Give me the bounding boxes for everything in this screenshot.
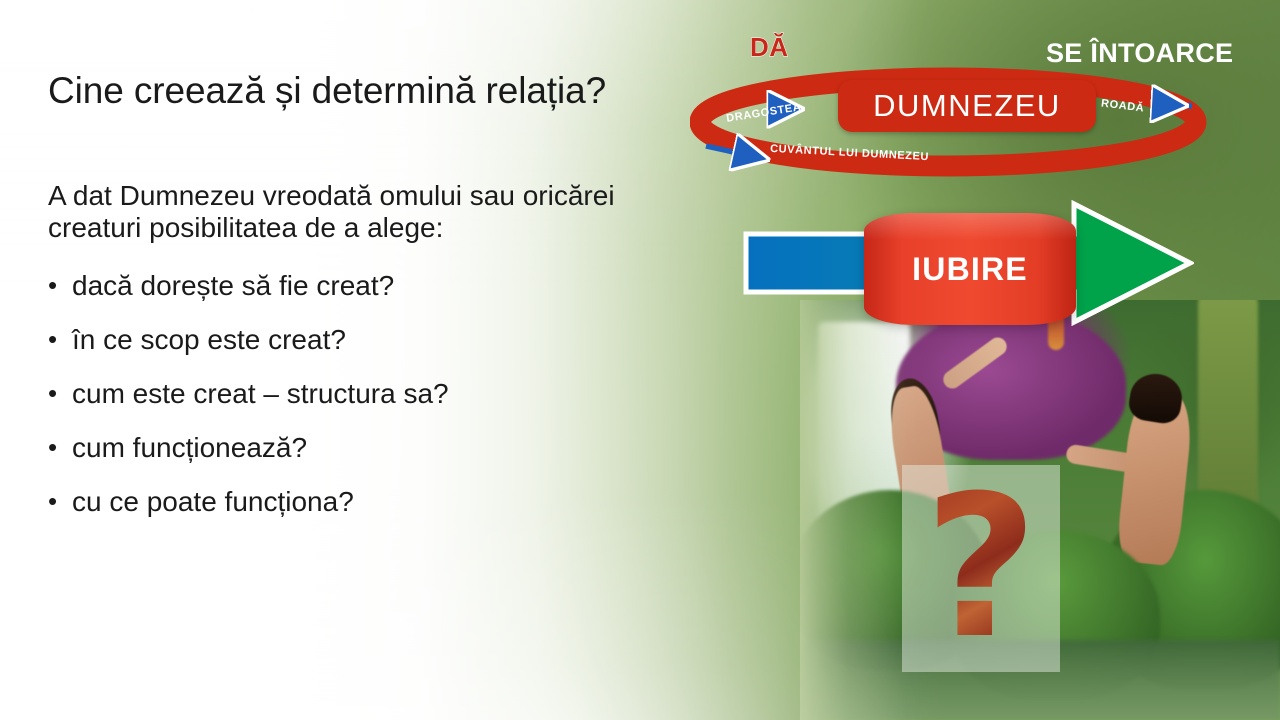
page-title: Cine creează și determină relația? [48, 70, 606, 112]
bullet-list: dacă dorește să fie creat? în ce scop es… [48, 272, 688, 542]
question-mark-panel: ? [902, 465, 1060, 672]
question-mark-icon: ? [924, 486, 1038, 651]
list-item: cum funcționează? [48, 434, 688, 462]
iubire-cylinder: IUBIRE [864, 213, 1076, 325]
list-item: cum este creat – structura sa? [48, 380, 688, 408]
intro-paragraph: A dat Dumnezeu vreodată omului sau orică… [48, 180, 688, 245]
arrow-cuvantul [706, 146, 738, 153]
cycle-arrows-graphic [690, 18, 1270, 183]
presentation-slide: Cine creează și determină relația? A dat… [0, 0, 1280, 720]
list-item: dacă dorește să fie creat? [48, 272, 688, 300]
list-item: în ce scop este creat? [48, 326, 688, 354]
list-item: cu ce poate funcționa? [48, 488, 688, 516]
arrow-roada [1156, 104, 1192, 106]
iubire-label: IUBIRE [912, 251, 1028, 288]
